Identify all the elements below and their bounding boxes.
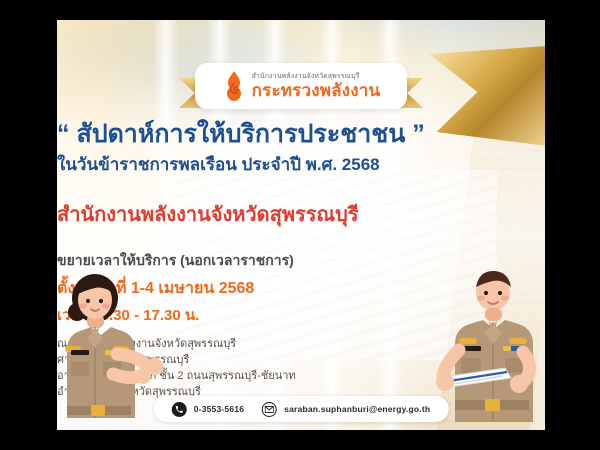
flame-icon xyxy=(222,71,246,101)
poster-canvas: สำนักงานพลังงานจังหวัดสุพรรณบุรี กระทรวง… xyxy=(0,0,600,450)
phone-icon xyxy=(172,402,187,417)
email-icon xyxy=(262,402,277,417)
ministry-logo-card: สำนักงานพลังงานจังหวัดสุพรรณบุรี กระทรวง… xyxy=(195,63,407,109)
logo-title: กระทรวงพลังงาน xyxy=(252,82,381,99)
headline-sub: ในวันข้าราชการพลเรือน ประจำปี พ.ศ. 2568 xyxy=(57,151,545,178)
phone-contact[interactable]: 0-3553-5616 xyxy=(172,402,244,417)
male-officer-illustration xyxy=(433,264,545,424)
office-name: สำนักงานพลังงานจังหวัดสุพรรณบุรี xyxy=(57,198,545,230)
poster: สำนักงานพลังงานจังหวัดสุพรรณบุรี กระทรวง… xyxy=(57,20,545,430)
logo-subtitle: สำนักงานพลังงานจังหวัดสุพรรณบุรี xyxy=(252,73,381,80)
headline-main: “ สัปดาห์การให้บริการประชาชน ” xyxy=(57,114,545,154)
contact-bar: 0-3553-5616 saraban.suphanburi@energy.go… xyxy=(154,396,449,422)
email-address: saraban.suphanburi@energy.go.th xyxy=(284,404,430,414)
phone-number: 0-3553-5616 xyxy=(194,404,244,414)
email-contact[interactable]: saraban.suphanburi@energy.go.th xyxy=(262,402,430,417)
female-officer-illustration xyxy=(57,270,169,420)
